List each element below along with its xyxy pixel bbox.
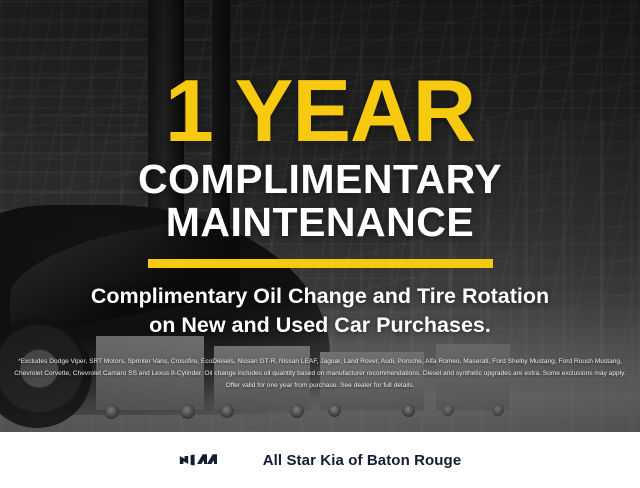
promotional-ad-banner: 1 YEAR COMPLIMENTARY MAINTENANCE Complim… — [0, 0, 640, 488]
headline-maintenance: MAINTENANCE — [166, 201, 474, 244]
headline-one-year: 1 YEAR — [165, 72, 475, 149]
hero-copy-block: 1 YEAR COMPLIMENTARY MAINTENANCE Complim… — [0, 0, 640, 432]
yellow-divider-rule — [148, 259, 493, 268]
hero-banner: 1 YEAR COMPLIMENTARY MAINTENANCE Complim… — [0, 0, 640, 432]
disclaimer-fine-print: *Excludes Dodge Viper, SRT Motors, Sprin… — [11, 356, 629, 391]
kia-wordmark-logo-icon — [179, 449, 241, 471]
dealer-footer: All Star Kia of Baton Rouge — [0, 432, 640, 488]
headline-complimentary: COMPLIMENTARY — [138, 159, 502, 201]
subheadline: Complimentary Oil Change and Tire Rotati… — [91, 282, 549, 339]
subheadline-line-1: Complimentary Oil Change and Tire Rotati… — [91, 282, 549, 310]
dealer-name: All Star Kia of Baton Rouge — [263, 452, 462, 469]
subheadline-line-2: on New and Used Car Purchases. — [91, 311, 549, 339]
